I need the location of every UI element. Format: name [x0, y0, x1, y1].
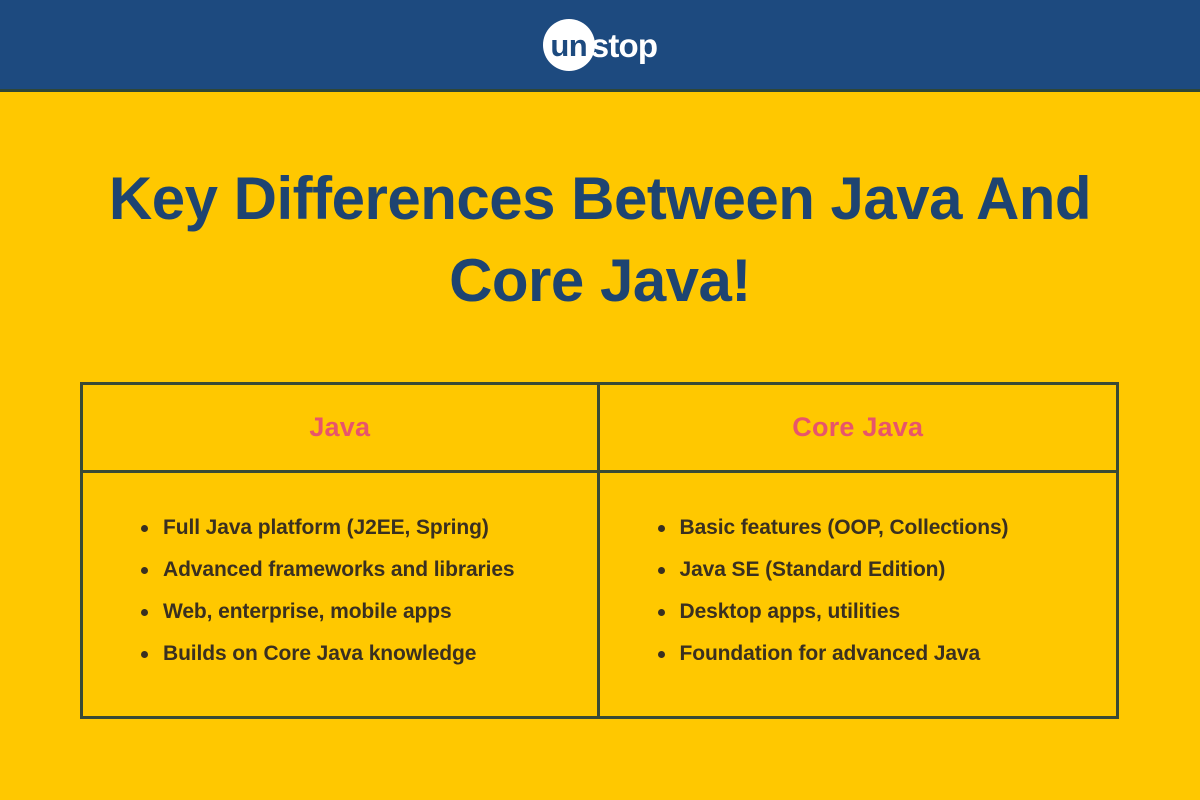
table-header-cell-core-java: Core Java — [600, 385, 1117, 470]
java-bullet-list: Full Java platform (J2EE, Spring) Advanc… — [83, 517, 515, 685]
column-header-label: Core Java — [792, 412, 923, 443]
unstop-logo-circle-text: un — [550, 30, 587, 61]
list-item: Foundation for advanced Java — [658, 643, 1009, 664]
unstop-logo[interactable]: un stop — [543, 19, 657, 71]
brand-header-bar: un stop — [0, 0, 1200, 92]
unstop-logo-circle-icon: un — [543, 19, 595, 71]
core-java-bullet-list: Basic features (OOP, Collections) Java S… — [600, 517, 1009, 685]
column-header-label: Java — [309, 412, 370, 443]
list-item: Java SE (Standard Edition) — [658, 559, 1009, 580]
list-item: Web, enterprise, mobile apps — [141, 601, 515, 622]
table-body-row: Full Java platform (J2EE, Spring) Advanc… — [83, 473, 1116, 716]
page-title: Key Differences Between Java And Core Ja… — [80, 158, 1120, 321]
list-item: Builds on Core Java knowledge — [141, 643, 515, 664]
unstop-logo-wordmark: stop — [591, 29, 657, 62]
list-item: Basic features (OOP, Collections) — [658, 517, 1009, 538]
list-item: Desktop apps, utilities — [658, 601, 1009, 622]
list-item: Advanced frameworks and libraries — [141, 559, 515, 580]
table-header-cell-java: Java — [83, 385, 600, 470]
infographic-canvas: un stop Key Differences Between Java And… — [0, 0, 1200, 800]
table-header-row: Java Core Java — [83, 385, 1116, 473]
list-item: Full Java platform (J2EE, Spring) — [141, 517, 515, 538]
table-body-cell-java: Full Java platform (J2EE, Spring) Advanc… — [83, 473, 600, 716]
table-body-cell-core-java: Basic features (OOP, Collections) Java S… — [600, 473, 1117, 716]
comparison-table: Java Core Java Full Java platform (J2EE,… — [80, 382, 1119, 719]
